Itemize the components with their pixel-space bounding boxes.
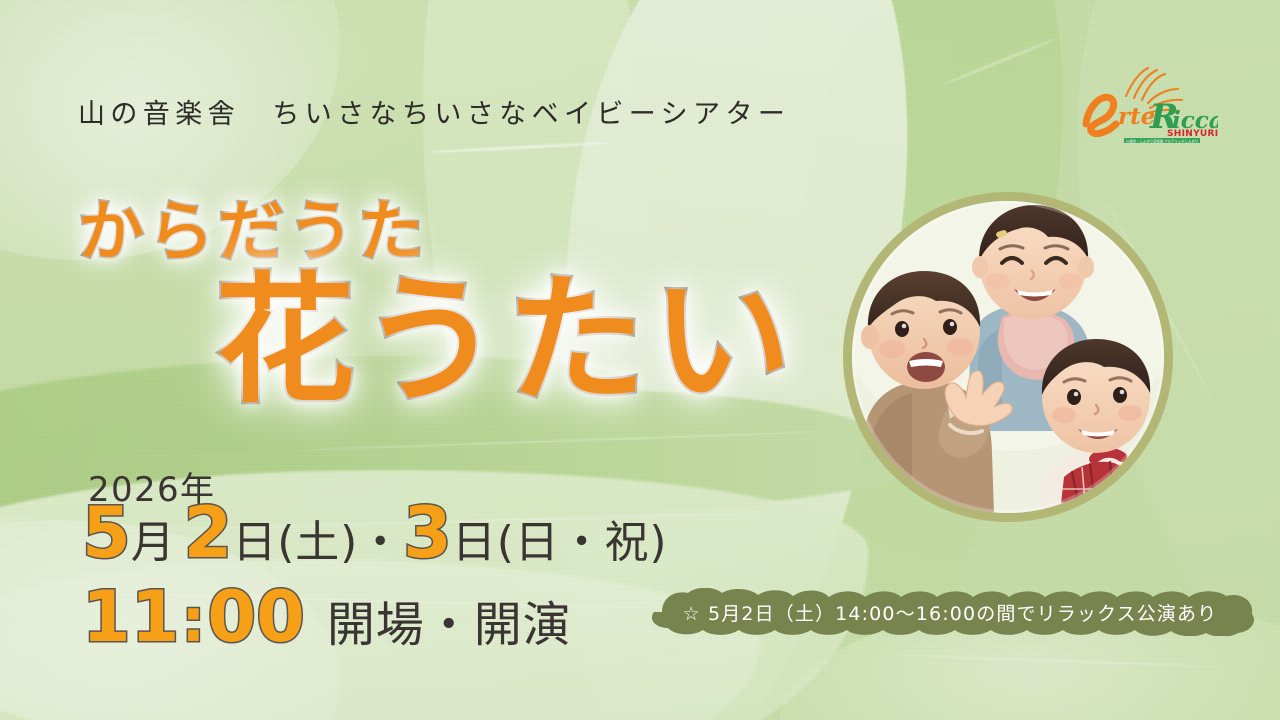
main-title-hanautai: 花うたい (215, 272, 797, 412)
babies-illustration (852, 201, 1164, 513)
date-month-number: 5 (82, 498, 131, 568)
svg-text:SHINYURI: SHINYURI (1167, 129, 1218, 139)
time-hour: 11 (82, 582, 179, 652)
date-day1-weekday: (土) (277, 521, 358, 565)
event-date-row: 5 月 2 日 (土) ・ 3 日 (日・祝) (82, 498, 667, 568)
photo-frame (852, 201, 1164, 513)
date-month-kanji: 月 (131, 521, 176, 565)
babies-photo (843, 192, 1173, 522)
arte-ricca-logo[interactable]: rte R icca SHINYURI 川崎市・しんゆり芸術祭 アルテリッチしん… (1078, 58, 1218, 144)
time-label: 開場・開演 (327, 601, 572, 649)
date-day1-number: 2 (184, 498, 233, 568)
poster-canvas: 山の音楽舎 ちいさなちいさなベイビーシアター rte R icca SHINYU… (0, 0, 1280, 720)
date-day2-weekday: (日・祝) (497, 521, 668, 565)
banner-text: ☆ 5月2日（土）14:00〜16:00の間でリラックス公演あり (640, 588, 1260, 636)
event-time-row: 11 : 00 開場・開演 (82, 582, 572, 652)
date-day1-kanji: 日 (232, 521, 277, 565)
event-series-header: 山の音楽舎 ちいさなちいさなベイビーシアター (78, 92, 790, 131)
time-colon: : (179, 591, 207, 651)
time-minute: 00 (207, 582, 304, 652)
date-separator: ・ (358, 521, 403, 565)
date-day2-number: 3 (403, 498, 452, 568)
relax-performance-banner: ☆ 5月2日（土）14:00〜16:00の間でリラックス公演あり (640, 588, 1260, 636)
logo-graphic: rte R icca SHINYURI 川崎市・しんゆり芸術祭 アルテリッチしん… (1078, 58, 1218, 144)
svg-text:川崎市・しんゆり芸術祭 アルテリッチしんゆり: 川崎市・しんゆり芸術祭 アルテリッチしんゆり (1126, 138, 1198, 143)
date-day2-kanji: 日 (452, 521, 497, 565)
